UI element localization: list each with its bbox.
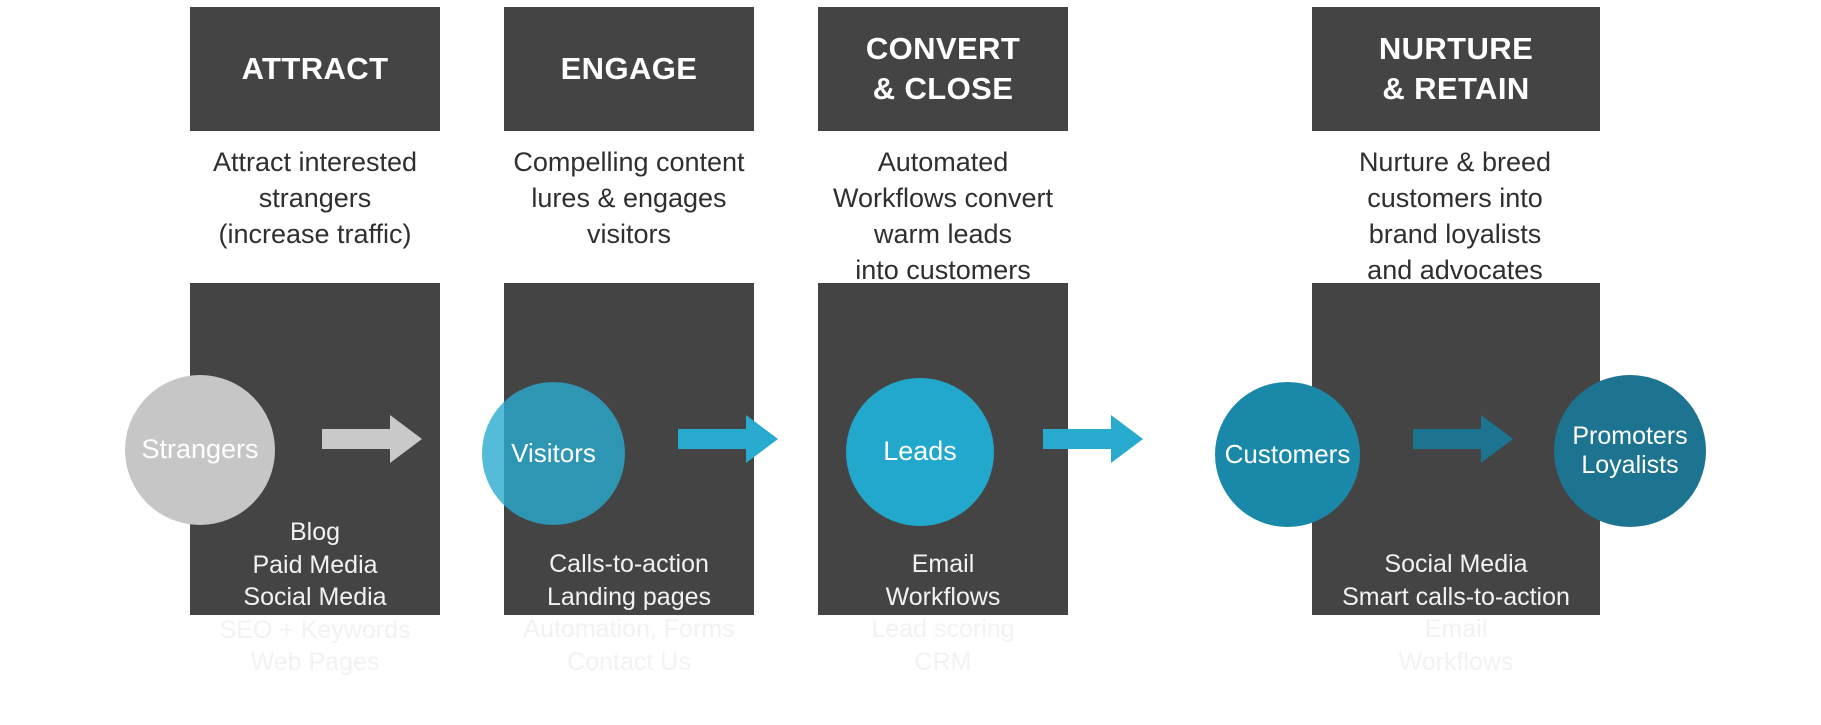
stage-header-attract: ATTRACT (190, 7, 440, 131)
funnel-node-label: Strangers (141, 434, 258, 466)
arrow-strangers-to-visitors-icon (322, 415, 422, 463)
stage-header-engage: ENGAGE (504, 7, 754, 131)
stage-tactics-convert-close: EmailWorkflowsLead scoringCRM (818, 548, 1068, 678)
stage-tactics-engage: Calls-to-actionLanding pagesAutomation, … (494, 548, 764, 678)
stage-description-attract: Attract interestedstrangers(increase tra… (170, 145, 460, 253)
stage-header-title: CONVERT& CLOSE (866, 29, 1020, 108)
funnel-node-customers[interactable]: Customers (1215, 382, 1360, 527)
funnel-node-label: Customers (1225, 439, 1351, 469)
stage-tactics-nurture-retain: Social MediaSmart calls-to-actionEmailWo… (1312, 548, 1600, 678)
funnel-node-promoters[interactable]: PromotersLoyalists (1554, 375, 1706, 527)
stage-header-nurture-retain: NURTURE& RETAIN (1312, 7, 1600, 131)
stage-header-title: NURTURE& RETAIN (1379, 29, 1533, 108)
stage-description-nurture-retain: Nurture & breedcustomers intobrand loyal… (1300, 145, 1610, 289)
funnel-diagram: ATTRACT ENGAGE CONVERT& CLOSE NURTURE& R… (0, 0, 1821, 725)
stage-description-convert-close: AutomatedWorkflows convertwarm leadsinto… (788, 145, 1098, 289)
stage-description-engage: Compelling contentlures & engagesvisitor… (484, 145, 774, 253)
stage-header-convert-close: CONVERT& CLOSE (818, 7, 1068, 131)
funnel-node-label: Leads (883, 436, 957, 468)
arrow-visitors-to-leads-icon (678, 415, 778, 463)
funnel-node-visitors[interactable]: Visitors (482, 382, 625, 525)
stage-header-title: ENGAGE (561, 49, 698, 89)
stage-header-title: ATTRACT (242, 49, 389, 89)
stage-tactics-attract: BlogPaid MediaSocial MediaSEO + Keywords… (190, 516, 440, 679)
funnel-node-label: Visitors (511, 438, 596, 468)
funnel-node-label: PromotersLoyalists (1572, 422, 1687, 481)
arrow-customers-to-promoters-icon (1413, 415, 1513, 463)
funnel-node-strangers[interactable]: Strangers (125, 375, 275, 525)
funnel-node-leads[interactable]: Leads (846, 378, 994, 526)
arrow-leads-to-customers-icon (1043, 415, 1143, 463)
